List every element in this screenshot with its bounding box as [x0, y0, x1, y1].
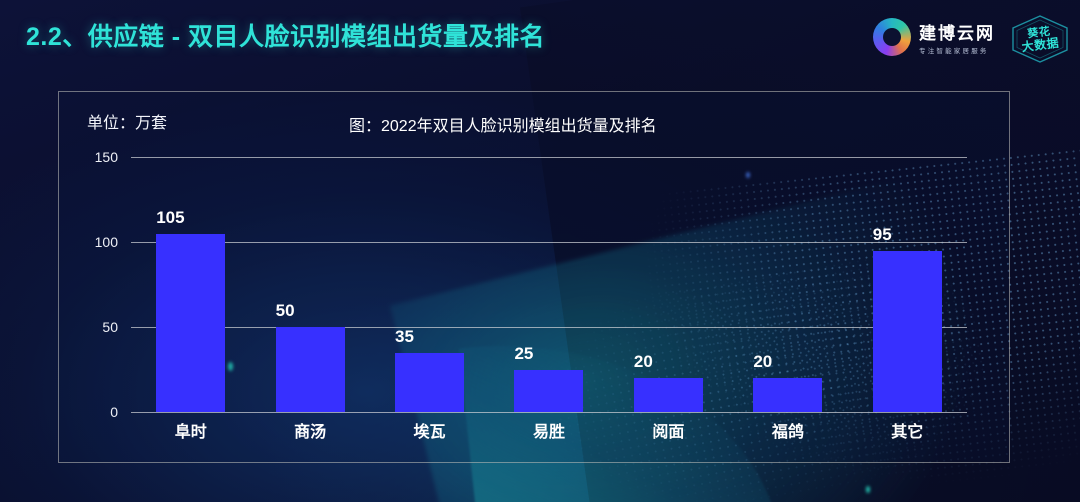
chart-bar-value-label: 35	[395, 327, 414, 347]
brand-text-block: 建博云网 专注智能家居服务	[919, 19, 995, 55]
chart-x-category-label: 福鸽	[728, 418, 847, 442]
chart-bar-slot: 50	[250, 157, 369, 412]
chart-bar[interactable]: 50	[276, 327, 345, 412]
chart-bar[interactable]: 95	[873, 251, 942, 413]
chart-plot-area: 050100150 105503525202095	[131, 157, 967, 412]
chart-bar-value-label: 20	[634, 352, 653, 372]
chart-x-category-label: 商汤	[250, 418, 369, 442]
chart-unit-label: 单位：万套	[87, 109, 167, 133]
brand-subtitle: 专注智能家居服务	[919, 45, 995, 55]
page-title: 2.2、供应链 - 双目人脸识别模组出货量及排名	[26, 17, 545, 53]
chart-bar-value-label: 25	[514, 344, 533, 364]
chart-bar-slot: 20	[728, 157, 847, 412]
chart-caption: 图：2022年双目人脸识别模组出货量及排名	[349, 112, 657, 136]
chart-y-tick-label: 100	[95, 234, 131, 250]
chart-bars: 105503525202095	[131, 157, 967, 412]
chart-bar-value-label: 50	[276, 301, 295, 321]
chart-bar-value-label: 95	[873, 225, 892, 245]
chart-bar-value-label: 105	[156, 208, 184, 228]
hexagon-badge-text: 葵花 大数据	[1020, 25, 1060, 52]
chart-bar[interactable]: 25	[514, 370, 583, 413]
badge-line-2: 大数据	[1021, 36, 1060, 52]
chart-bar-slot: 95	[848, 157, 967, 412]
chart-bar-value-label: 20	[753, 352, 772, 372]
chart-bar[interactable]: 20	[634, 378, 703, 412]
chart-panel: 单位：万套 图：2022年双目人脸识别模组出货量及排名 050100150 10…	[58, 91, 1010, 463]
chart-gridline: 0	[131, 412, 967, 413]
chart-x-category-label: 易胜	[489, 418, 608, 442]
chart-bar[interactable]: 20	[753, 378, 822, 412]
chart-bar-slot: 25	[489, 157, 608, 412]
chart-category-axis: 阜时商汤埃瓦易胜阅面福鸽其它	[131, 418, 967, 442]
chart-bar-slot: 35	[370, 157, 489, 412]
chart-bar-slot: 20	[609, 157, 728, 412]
chart-y-tick-label: 50	[102, 319, 131, 335]
chart-bar[interactable]: 35	[395, 353, 464, 413]
chart-x-category-label: 埃瓦	[370, 418, 489, 442]
glow-accent-dot	[866, 486, 870, 493]
brand-logo: 建博云网 专注智能家居服务	[873, 18, 995, 56]
chart-x-category-label: 其它	[848, 418, 967, 442]
chart-y-tick-label: 150	[95, 149, 131, 165]
swirl-ring-logo-icon	[873, 18, 911, 56]
hexagon-badge-icon: 葵花 大数据	[1009, 14, 1071, 64]
chart-x-category-label: 阜时	[131, 418, 250, 442]
chart-bar-slot: 105	[131, 157, 250, 412]
slide-root: 2.2、供应链 - 双目人脸识别模组出货量及排名 建博云网 专注智能家居服务 葵…	[0, 0, 1080, 502]
brand-name: 建博云网	[919, 19, 995, 44]
chart-y-tick-label: 0	[110, 404, 131, 420]
chart-x-category-label: 阅面	[609, 418, 728, 442]
slide-header: 2.2、供应链 - 双目人脸识别模组出货量及排名 建博云网 专注智能家居服务 葵…	[0, 0, 1080, 72]
chart-bar[interactable]: 105	[156, 234, 225, 413]
